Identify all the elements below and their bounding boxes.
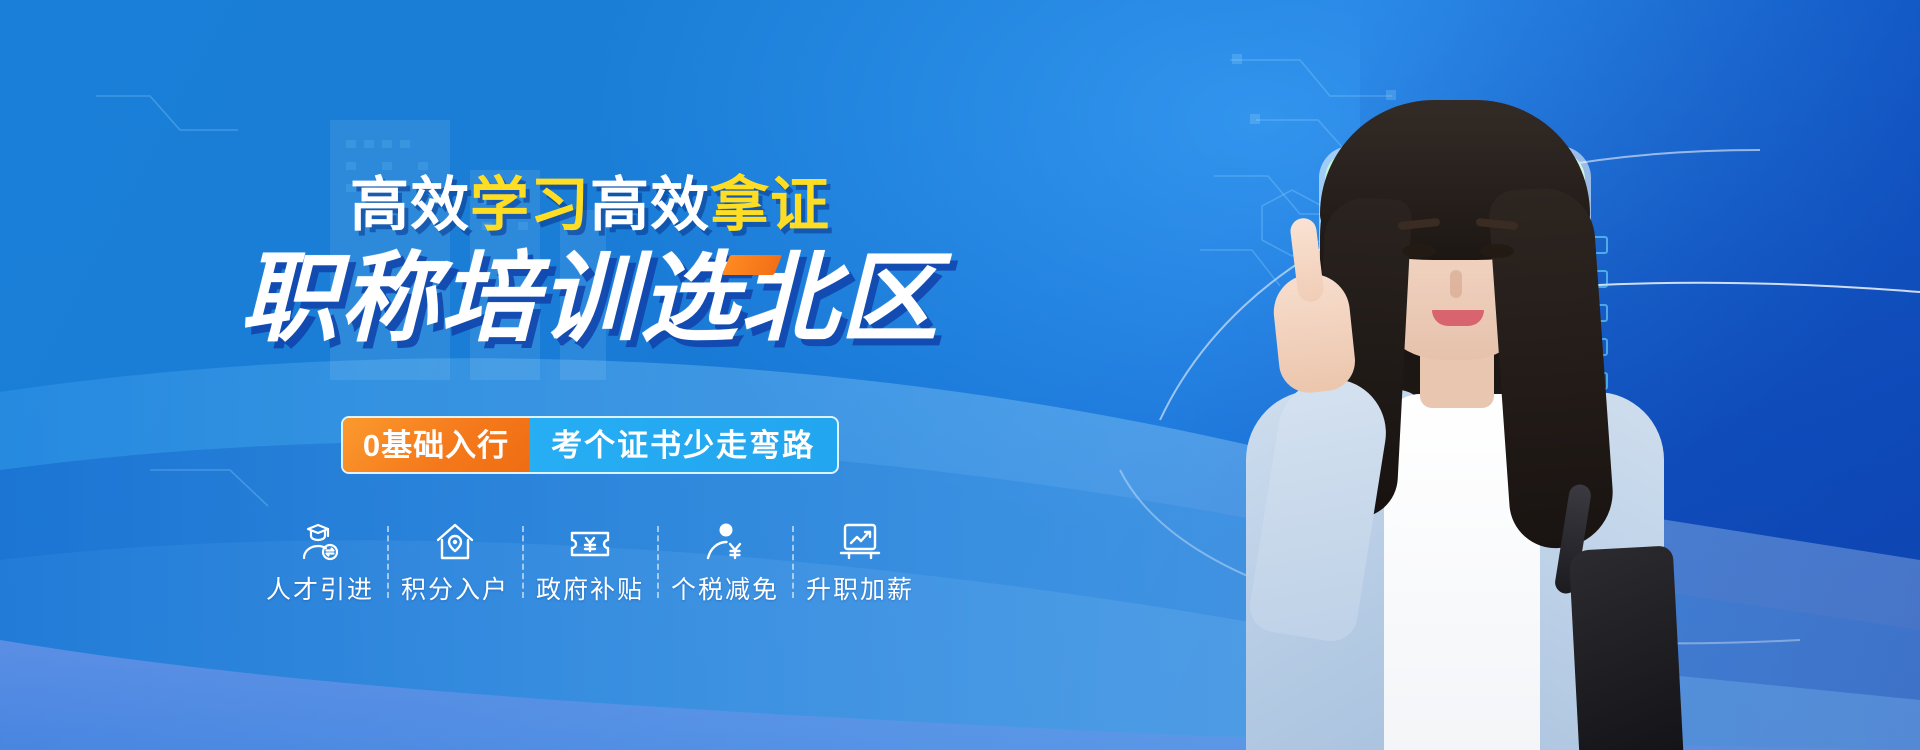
feature-item-government-subsidy[interactable]: 政府补贴 xyxy=(524,520,657,603)
promo-banner: 高效学习高效拿证 职称培训选北区 0基础入行 考个证书少走弯路 xyxy=(0,0,1920,750)
sub-headline-part-1: 高效 xyxy=(350,172,470,238)
sub-headline-part-3: 高效 xyxy=(590,172,710,238)
feature-label: 个税减免 xyxy=(671,578,779,603)
headline-block: 高效学习高效拿证 职称培训选北区 xyxy=(0,176,1180,347)
sub-headline-part-2: 学习 xyxy=(470,172,590,238)
banner-content: 高效学习高效拿证 职称培训选北区 0基础入行 考个证书少走弯路 xyxy=(0,0,1180,750)
house-pin-icon xyxy=(431,520,479,564)
tagline-message: 考个证书少走弯路 xyxy=(529,418,837,472)
tagline-row: 0基础入行 考个证书少走弯路 xyxy=(0,416,1180,474)
sub-headline: 高效学习高效拿证 xyxy=(0,176,1180,235)
main-headline-text: 职称培训选北区 xyxy=(240,243,940,353)
tagline-pill[interactable]: 0基础入行 考个证书少走弯路 xyxy=(341,416,839,474)
feature-item-points-residency[interactable]: 积分入户 xyxy=(389,520,522,603)
headline-accent-stroke xyxy=(722,255,782,275)
main-headline: 职称培训选北区 xyxy=(240,249,940,347)
person-yuan-icon xyxy=(701,520,749,564)
feature-item-talent-introduction[interactable]: 人才引进 xyxy=(254,520,387,603)
feature-label: 政府补贴 xyxy=(536,578,644,603)
pointing-woman-photo xyxy=(1170,78,1730,750)
coupon-yuan-icon xyxy=(566,520,614,564)
feature-list: 人才引进 积分入户 xyxy=(0,520,1180,603)
feature-item-promotion-raise[interactable]: 升职加薪 xyxy=(794,520,927,603)
sub-headline-part-4: 拿证 xyxy=(710,172,830,238)
graduate-person-icon xyxy=(296,520,344,564)
feature-label: 人才引进 xyxy=(266,578,374,603)
feature-label: 积分入户 xyxy=(401,578,509,603)
feature-label: 升职加薪 xyxy=(806,578,914,603)
main-headline-row: 职称培训选北区 xyxy=(0,235,1180,347)
tagline-badge[interactable]: 0基础入行 xyxy=(343,418,529,472)
growth-chart-icon xyxy=(836,520,884,564)
feature-item-tax-reduction[interactable]: 个税减免 xyxy=(659,520,792,603)
hero-visual xyxy=(1150,0,1920,750)
